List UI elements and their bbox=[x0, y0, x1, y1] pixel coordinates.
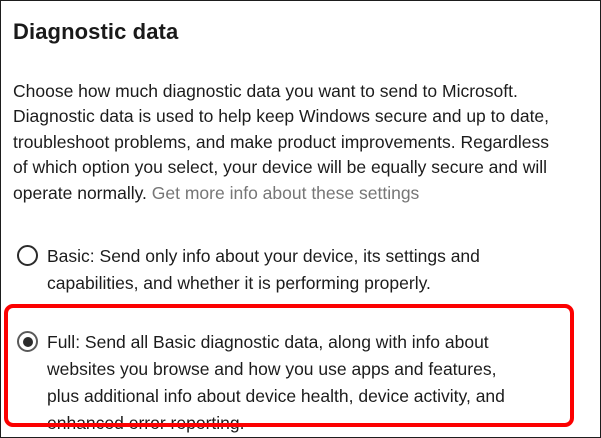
get-more-info-link[interactable]: Get more info about these settings bbox=[152, 183, 420, 203]
radio-option-full[interactable]: Full: Send all Basic diagnostic data, al… bbox=[1, 313, 600, 438]
radio-unchecked-icon[interactable] bbox=[17, 245, 38, 266]
radio-checked-icon[interactable] bbox=[17, 331, 38, 352]
radio-option-basic[interactable]: Basic: Send only info about your device,… bbox=[1, 237, 600, 297]
diagnostic-data-panel: Diagnostic data Choose how much diagnost… bbox=[1, 1, 600, 437]
intro-description: Choose how much diagnostic data you want… bbox=[13, 79, 561, 207]
page-title: Diagnostic data bbox=[13, 18, 178, 46]
radio-option-basic-label: Basic: Send only info about your device,… bbox=[47, 243, 517, 297]
settings-page: Diagnostic data Choose how much diagnost… bbox=[0, 0, 601, 438]
diagnostic-level-radio-group: Basic: Send only info about your device,… bbox=[1, 237, 600, 438]
radio-option-full-label: Full: Send all Basic diagnostic data, al… bbox=[47, 329, 527, 437]
